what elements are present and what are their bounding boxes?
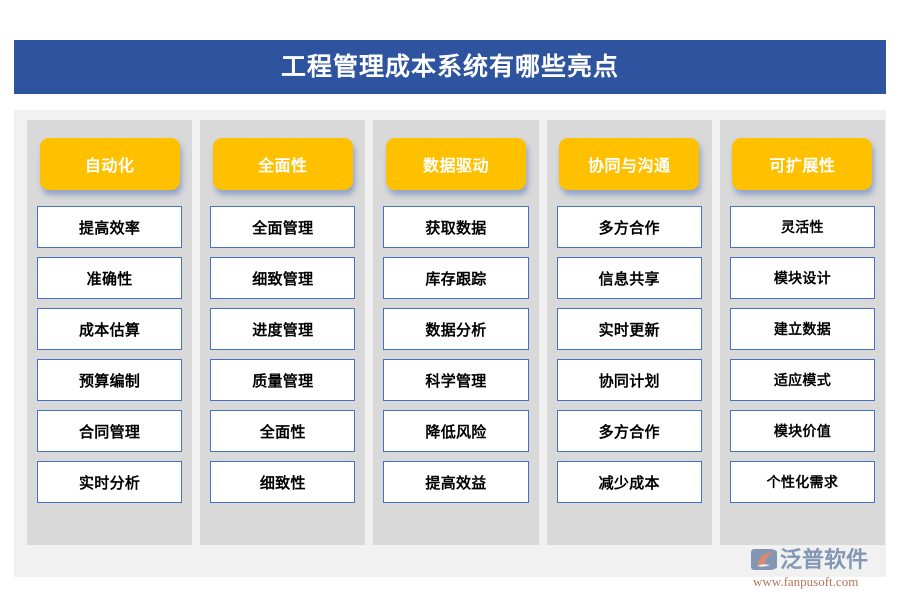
feature-cell[interactable]: 灵活性 — [730, 206, 875, 248]
feature-cell-label: 科学管理 — [425, 370, 486, 391]
page-root: 工程管理成本系统有哪些亮点 自动化提高效率准确性成本估算预算编制合同管理实时分析… — [0, 0, 900, 600]
feature-cell[interactable]: 细致性 — [210, 461, 355, 503]
feature-cell[interactable]: 细致管理 — [210, 257, 355, 299]
category-header-pill[interactable]: 全面性 — [213, 138, 353, 190]
category-column: 协同与沟通多方合作信息共享实时更新协同计划多方合作减少成本 — [547, 120, 712, 545]
category-header-label: 数据驱动 — [423, 152, 489, 176]
feature-cell[interactable]: 准确性 — [37, 257, 182, 299]
feature-cell-label: 实时更新 — [599, 319, 660, 340]
logo-row: 泛普软件 — [750, 546, 868, 573]
feature-cell[interactable]: 库存跟踪 — [383, 257, 528, 299]
feature-cell-label: 模块设计 — [774, 268, 831, 288]
feature-cell[interactable]: 模块设计 — [730, 257, 875, 299]
feature-cell[interactable]: 提高效率 — [37, 206, 182, 248]
feature-cell-label: 灵活性 — [781, 217, 824, 237]
feature-cell[interactable]: 减少成本 — [557, 461, 702, 503]
feature-cell[interactable]: 适应模式 — [730, 359, 875, 401]
feature-cell[interactable]: 多方合作 — [557, 206, 702, 248]
feature-cell-label: 预算编制 — [79, 370, 140, 391]
feature-cell-label: 细致管理 — [252, 268, 313, 289]
feature-cell-label: 细致性 — [260, 472, 306, 493]
feature-cell-label: 多方合作 — [599, 421, 660, 442]
feature-cell[interactable]: 实时更新 — [557, 308, 702, 350]
category-header-pill[interactable]: 协同与沟通 — [559, 138, 699, 190]
feature-cell[interactable]: 合同管理 — [37, 410, 182, 452]
feature-cell[interactable]: 多方合作 — [557, 410, 702, 452]
footer-logo: 泛普软件 www.fanpusoft.com — [750, 546, 895, 590]
feature-cell[interactable]: 建立数据 — [730, 308, 875, 350]
feature-cell-list: 提高效率准确性成本估算预算编制合同管理实时分析 — [37, 206, 182, 503]
feature-cell[interactable]: 实时分析 — [37, 461, 182, 503]
category-column: 全面性全面管理细致管理进度管理质量管理全面性细致性 — [200, 120, 365, 545]
feature-cell-label: 全面性 — [260, 421, 306, 442]
feature-cell-label: 库存跟踪 — [425, 268, 486, 289]
feature-cell-label: 模块价值 — [774, 421, 831, 441]
feature-cell-label: 质量管理 — [252, 370, 313, 391]
feature-cell-label: 成本估算 — [79, 319, 140, 340]
feature-cell[interactable]: 进度管理 — [210, 308, 355, 350]
feature-cell-label: 获取数据 — [425, 217, 486, 238]
category-column: 自动化提高效率准确性成本估算预算编制合同管理实时分析 — [27, 120, 192, 545]
page-title: 工程管理成本系统有哪些亮点 — [281, 55, 619, 80]
title-banner: 工程管理成本系统有哪些亮点 — [14, 40, 886, 94]
feature-cell[interactable]: 科学管理 — [383, 359, 528, 401]
feature-cell-list: 多方合作信息共享实时更新协同计划多方合作减少成本 — [557, 206, 702, 503]
category-column: 数据驱动获取数据库存跟踪数据分析科学管理降低风险提高效益 — [373, 120, 538, 545]
brand-url: www.fanpusoft.com — [753, 575, 858, 588]
feature-cell[interactable]: 信息共享 — [557, 257, 702, 299]
feature-cell[interactable]: 个性化需求 — [730, 461, 875, 503]
feature-cell-label: 合同管理 — [79, 421, 140, 442]
feature-cell-label: 提高效率 — [79, 217, 140, 238]
feature-cell-label: 降低风险 — [425, 421, 486, 442]
feature-cell[interactable]: 提高效益 — [383, 461, 528, 503]
feature-cell[interactable]: 质量管理 — [210, 359, 355, 401]
feature-cell[interactable]: 数据分析 — [383, 308, 528, 350]
feature-cell-label: 进度管理 — [252, 319, 313, 340]
feature-cell-label: 全面管理 — [252, 217, 313, 238]
feature-cell[interactable]: 模块价值 — [730, 410, 875, 452]
category-header-pill[interactable]: 可扩展性 — [732, 138, 872, 190]
columns-grid: 自动化提高效率准确性成本估算预算编制合同管理实时分析全面性全面管理细致管理进度管… — [27, 120, 885, 545]
feature-cell-label: 数据分析 — [425, 319, 486, 340]
feature-cell-label: 实时分析 — [79, 472, 140, 493]
feature-cell-list: 全面管理细致管理进度管理质量管理全面性细致性 — [210, 206, 355, 503]
feature-cell[interactable]: 成本估算 — [37, 308, 182, 350]
feature-cell-label: 准确性 — [87, 268, 133, 289]
category-header-label: 可扩展性 — [769, 152, 835, 176]
feature-cell-label: 协同计划 — [599, 370, 660, 391]
feature-cell[interactable]: 协同计划 — [557, 359, 702, 401]
feature-cell-label: 适应模式 — [774, 370, 831, 390]
feature-cell-label: 提高效益 — [425, 472, 486, 493]
category-header-pill[interactable]: 自动化 — [40, 138, 180, 190]
feature-cell[interactable]: 全面性 — [210, 410, 355, 452]
feature-cell-label: 个性化需求 — [767, 472, 839, 492]
feature-cell-label: 减少成本 — [599, 472, 660, 493]
feature-cell-label: 建立数据 — [774, 319, 831, 339]
category-header-label: 自动化 — [85, 152, 135, 176]
feature-cell-label: 多方合作 — [599, 217, 660, 238]
feature-cell[interactable]: 全面管理 — [210, 206, 355, 248]
category-column: 可扩展性灵活性模块设计建立数据适应模式模块价值个性化需求 — [720, 120, 885, 545]
category-header-pill[interactable]: 数据驱动 — [386, 138, 526, 190]
feature-cell[interactable]: 获取数据 — [383, 206, 528, 248]
feature-cell[interactable]: 预算编制 — [37, 359, 182, 401]
feature-cell-list: 灵活性模块设计建立数据适应模式模块价值个性化需求 — [730, 206, 875, 503]
feature-cell-list: 获取数据库存跟踪数据分析科学管理降低风险提高效益 — [383, 206, 528, 503]
category-header-label: 协同与沟通 — [588, 152, 671, 176]
category-header-label: 全面性 — [258, 152, 308, 176]
brand-name: 泛普软件 — [780, 549, 868, 571]
fanpu-leaf-logo-icon — [750, 547, 777, 572]
feature-cell-label: 信息共享 — [599, 268, 660, 289]
feature-cell[interactable]: 降低风险 — [383, 410, 528, 452]
